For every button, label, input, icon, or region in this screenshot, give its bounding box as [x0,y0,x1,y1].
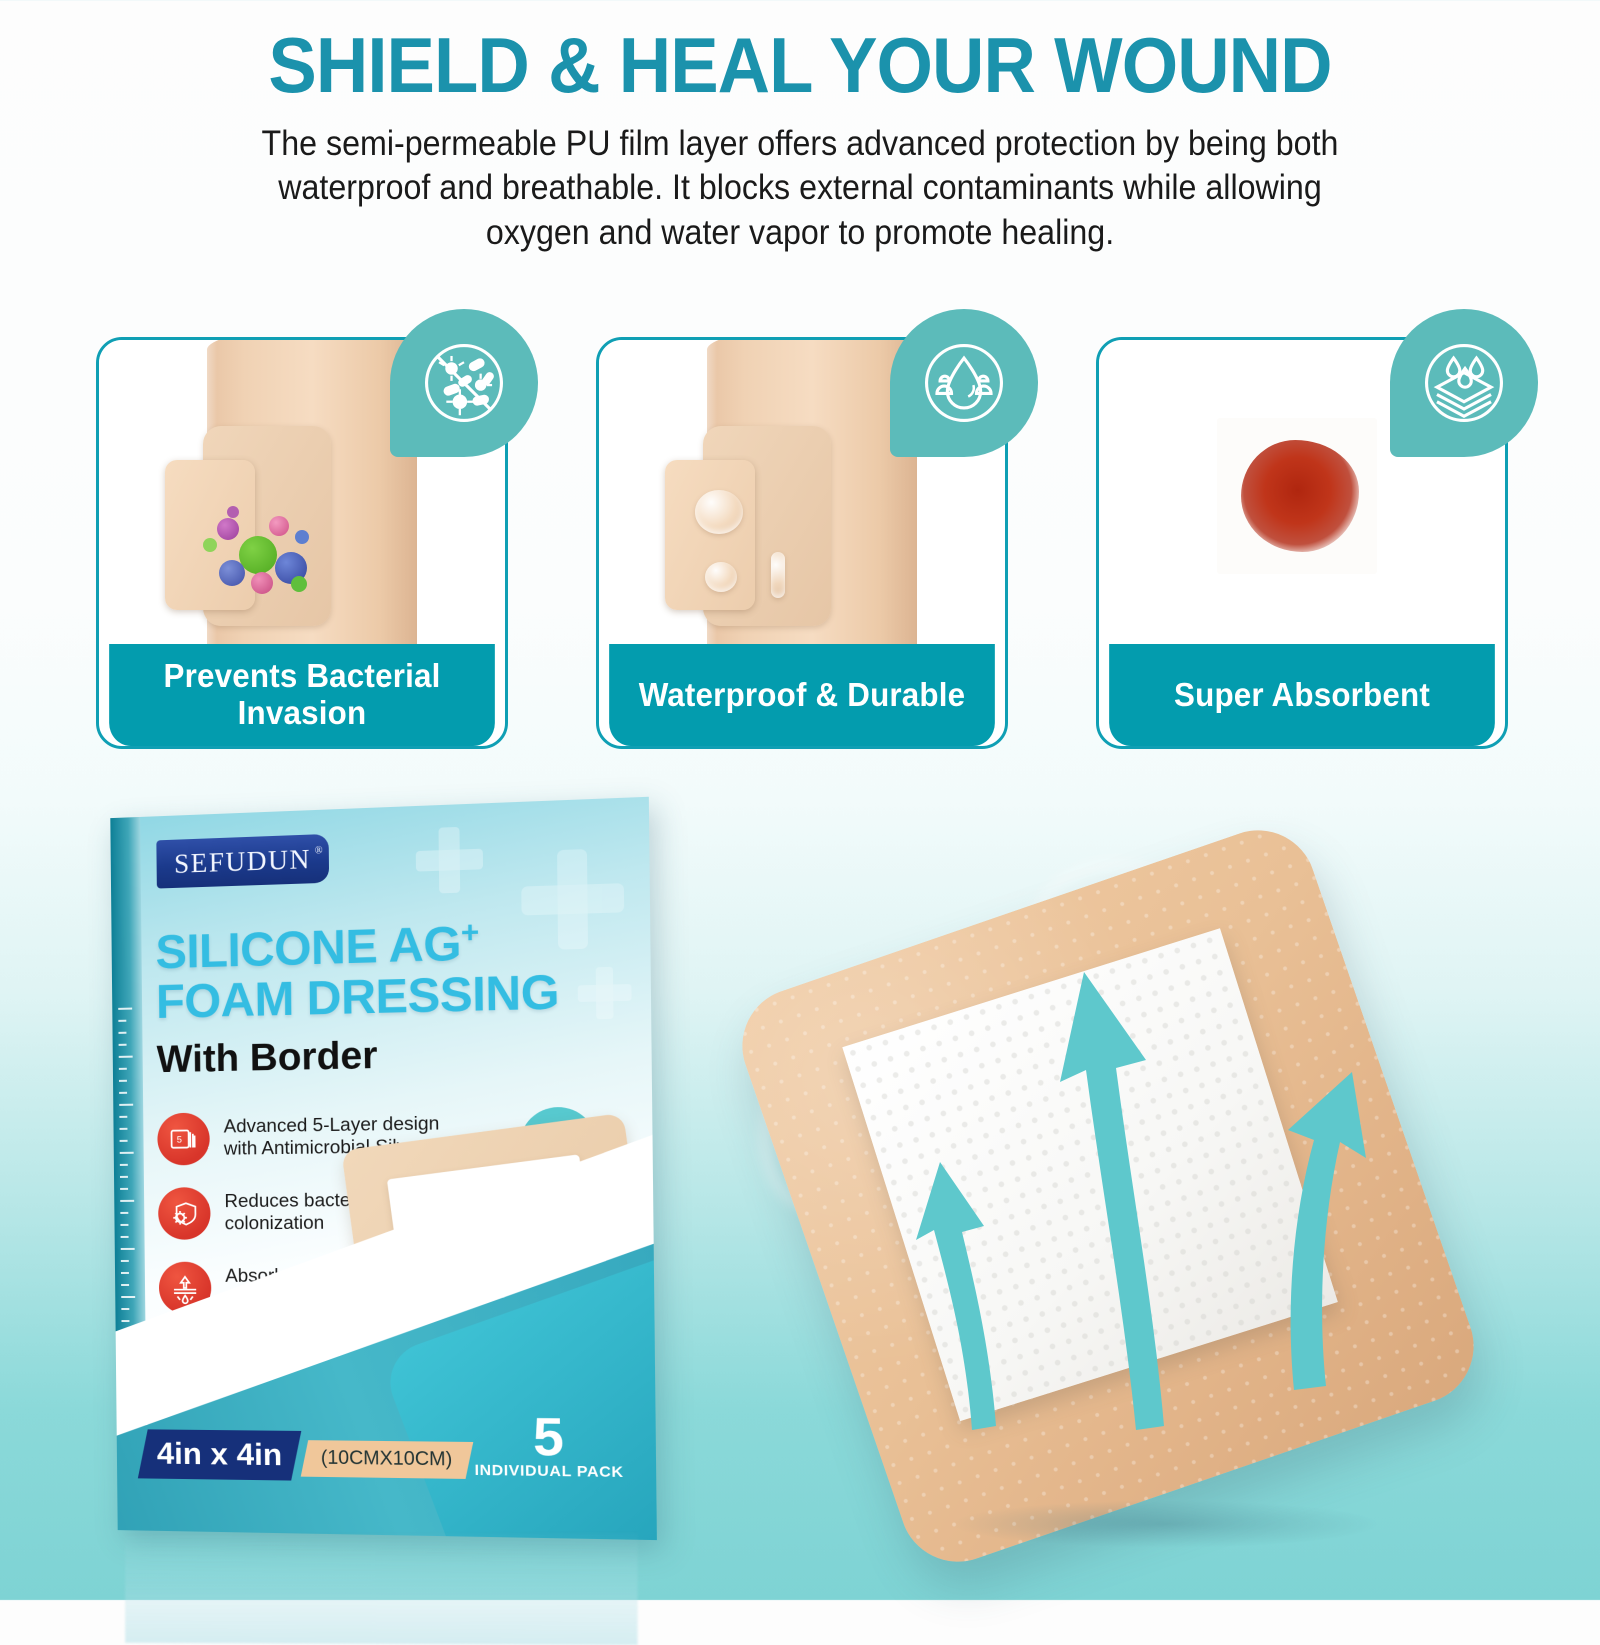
breathability-visual [700,800,1600,1600]
water-droplet-small [705,562,737,592]
shield-germ-icon [158,1187,211,1240]
box-product-title: SILICONE AG+ FOAM DRESSING [155,913,591,1026]
vapor-arrow-left [910,1100,1030,1430]
size-imperial-badge: 4in x 4in [138,1429,302,1480]
card-label: Waterproof & Durable [609,644,995,746]
feature-card-prevents-bacterial-invasion: Prevents Bacterial Invasion [96,337,508,749]
dressing-shadow [950,1500,1380,1548]
feature-card-super-absorbent: Super Absorbent [1096,337,1508,749]
exudate-stain [1241,440,1359,552]
brand-name: SEFUDUN® [174,843,311,879]
box-product-subtitle: With Border [156,1034,377,1082]
card-label: Super Absorbent [1109,644,1495,746]
dressing-pad [165,460,255,610]
vapor-arrow-right [1240,990,1380,1390]
header: SHIELD & HEAL YOUR WOUND The semi-permea… [0,0,1600,256]
card-label: Prevents Bacterial Invasion [109,644,495,746]
pack-count-block: 5 INDIVIDUAL PACK [474,1413,624,1481]
registered-mark: ® [315,845,324,857]
size-metric-badge: (10CMX10CM) [301,1440,473,1479]
ag-plus-superscript: + [461,916,479,950]
medical-cross-icon [416,826,484,894]
feature-card-waterproof-durable: Waterproof & Durable [596,337,1008,749]
pack-count-number: 5 [474,1413,624,1463]
five-layers-icon: 5 [157,1113,210,1166]
no-bacteria-icon [390,309,538,457]
water-droplet-streak [771,552,785,598]
box-front-face: SEFUDUN® SILICONE AG+ FOAM DRESSING With… [110,797,657,1540]
absorbent-layers-icon [1390,309,1538,457]
ruler-graphic [118,1007,140,1368]
page-title: SHIELD & HEAL YOUR WOUND [56,26,1544,106]
water-drop-icon [890,309,1038,457]
svg-text:5: 5 [177,1134,182,1144]
brand-logo-plate: SEFUDUN® [156,834,329,889]
feature-card-row: Prevents Bacterial Invasion [96,337,1508,749]
water-droplet-large [695,490,743,534]
product-box: SEFUDUN® SILICONE AG+ FOAM DRESSING With… [96,806,676,1566]
vapor-arrow-center [1040,910,1200,1430]
pack-count-label: INDIVIDUAL PACK [475,1462,624,1482]
page-subtitle: The semi-permeable PU film layer offers … [257,122,1343,256]
box-reflection [125,1531,637,1645]
